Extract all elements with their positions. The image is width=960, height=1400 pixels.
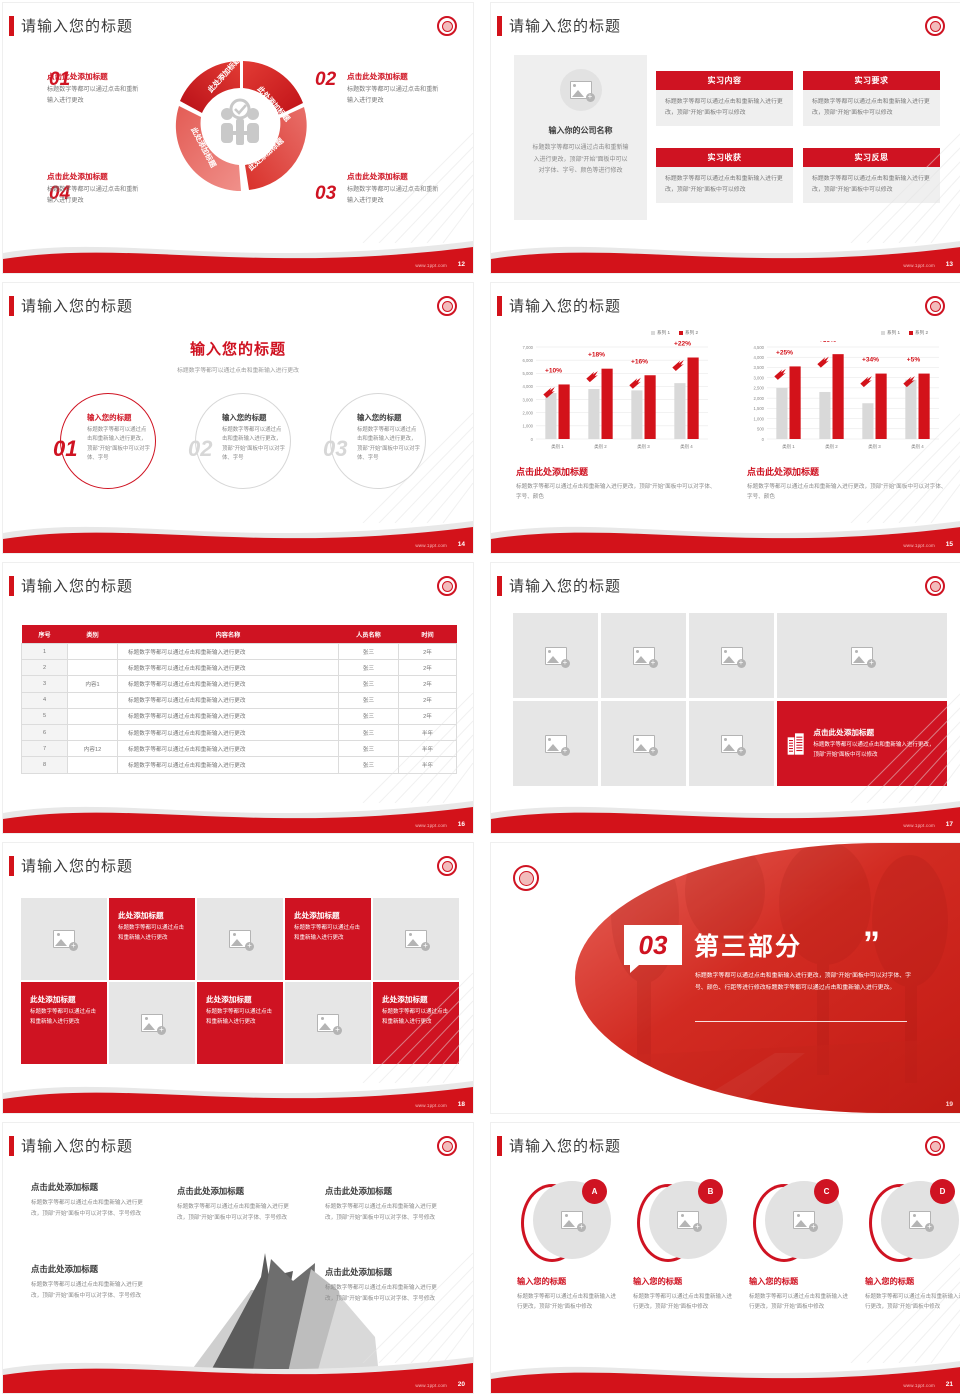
cycle-body: 标题数字等都可以通过点击和重新输入进行更改: [47, 85, 139, 106]
card-title: 实习要求: [803, 71, 940, 90]
photo-placeholder[interactable]: +: [601, 701, 686, 786]
lead-title: 输入您的标题: [3, 338, 473, 359]
tile-title: 此处添加标题: [118, 910, 186, 921]
footer-wave: [3, 1347, 473, 1393]
page-number: 17: [946, 821, 953, 828]
table-cell: 内容12: [68, 741, 118, 757]
cycle-heading: 点击此处添加标题: [47, 171, 139, 182]
legend-label: 系列 2: [915, 330, 928, 336]
table-cell: 标题数字等都可以通过点击和重新输入进行更改: [118, 757, 339, 773]
table-cell: [68, 644, 118, 660]
table-cell: 张三: [339, 644, 399, 660]
table-cell: 7: [22, 741, 68, 757]
footer-wave: [3, 507, 473, 553]
growth-arrow-icon: [629, 378, 641, 389]
university-seal-logo: [925, 296, 945, 316]
card-body: 标题数字等都可以通过点击和重新输入进行更改，顶部“开始”面板中可以修改: [656, 167, 793, 203]
circle-title: 输入您的标题: [222, 412, 286, 423]
footer-url: www.1ppt.com: [415, 1103, 447, 1108]
chart-caption: 点击此处添加标题: [516, 465, 716, 478]
cycle-diagram: 此处添加标题 此处添加标题 此处添加标题 此处添加标题: [165, 51, 315, 201]
legend-label: 系列 2: [685, 330, 698, 336]
footer-wave: [491, 507, 960, 553]
ring-badge: D: [930, 1179, 955, 1204]
y-axis-tick: 2,000: [754, 396, 765, 401]
table-cell: 标题数字等都可以通过点击和重新输入进行更改: [118, 676, 339, 692]
slide-header: 请输入您的标题: [9, 15, 133, 36]
university-seal-logo: [925, 16, 945, 36]
slide-19[interactable]: 03 第三部分 ” 标题数字等都可以通过点击和重新输入进行更改，顶部“开始”面板…: [490, 842, 960, 1114]
page-title: 请输入您的标题: [509, 15, 621, 36]
bar: [688, 358, 699, 439]
bar-annotation: +25%: [776, 349, 793, 356]
footer-url: www.1ppt.com: [415, 1383, 447, 1388]
cycle-text-02: 点击此处添加标题 标题数字等都可以通过点击和重新输入进行更改: [347, 71, 439, 106]
photo-placeholder[interactable]: +: [689, 701, 774, 786]
card-title: 实习内容: [656, 71, 793, 90]
info-card-3[interactable]: 实习收获 标题数字等都可以通过点击和重新输入进行更改，顶部“开始”面板中可以修改: [656, 148, 793, 203]
bar: [674, 383, 685, 439]
tile-body: 标题数字等都可以通过点击和重新输入进行更改: [206, 1008, 274, 1028]
company-name: 输入你的公司名称: [514, 125, 647, 136]
y-axis-tick: 6,000: [523, 358, 534, 363]
footer-url: www.1ppt.com: [903, 1383, 935, 1388]
y-axis-tick: 1,000: [754, 416, 765, 421]
y-axis-tick: 1,000: [523, 424, 534, 429]
slide-header: 请输入您的标题: [9, 575, 133, 596]
lead-subtitle: 标题数字等都可以通过点击和重新输入进行更改: [3, 365, 473, 374]
tile-body: 标题数字等都可以通过点击和重新输入进行更改: [118, 924, 186, 944]
page-number: 12: [458, 261, 465, 268]
footer-wave: [491, 787, 960, 833]
company-body: 标题数字等都可以通过点击和重新输入进行更改，顶部“开始”面板中可以对字体、字号、…: [514, 136, 647, 178]
add-image-icon: +: [317, 1014, 339, 1032]
y-axis-tick: 4,500: [754, 345, 765, 350]
feature-title: 点击此处添加标题: [177, 1185, 299, 1197]
y-axis-tick: 4,000: [523, 384, 534, 389]
y-axis-tick: 3,000: [523, 397, 534, 402]
ring-title: 输入您的标题: [633, 1275, 735, 1287]
add-image-icon: +: [909, 1211, 931, 1229]
table-header-cell: 序号: [22, 625, 68, 644]
x-axis-tick: 类别 2: [594, 443, 607, 450]
page-title: 请输入您的标题: [21, 1135, 133, 1156]
text-tile[interactable]: 此处添加标题标题数字等都可以通过点击和重新输入进行更改: [197, 982, 283, 1064]
add-image-icon: +: [793, 1211, 815, 1229]
tile-title: 此处添加标题: [294, 910, 362, 921]
section-number-box: 03: [624, 925, 682, 965]
footer-url: www.1ppt.com: [415, 823, 447, 828]
slide-13[interactable]: 请输入您的标题 + 输入你的公司名称 标题数字等都可以通过点击和重新输入进行更改…: [490, 2, 960, 274]
slide-header: 请输入您的标题: [497, 15, 621, 36]
circle-title: 输入您的标题: [87, 412, 151, 423]
university-seal-logo: [925, 1136, 945, 1156]
slide-21[interactable]: 请输入您的标题 +A输入您的标题标题数字等都可以通过点击和重新输入进行更改，顶部…: [490, 1122, 960, 1394]
chart-body: 标题数字等都可以通过点击和重新输入进行更改，顶部“开始”面板中可以对字体、字号、…: [516, 482, 716, 503]
bar-annotation: +22%: [674, 341, 691, 348]
footer-wave: [3, 787, 473, 833]
footer-wave: [491, 227, 960, 273]
university-seal-logo: [513, 865, 539, 891]
circle-number: 03: [323, 436, 347, 462]
add-image-icon: +: [561, 1211, 583, 1229]
university-seal-logo: [437, 296, 457, 316]
page-number: 16: [458, 821, 465, 828]
table-cell: 张三: [339, 676, 399, 692]
table-cell: 标题数字等都可以通过点击和重新输入进行更改: [118, 741, 339, 757]
slide-18[interactable]: 请输入您的标题 +此处添加标题标题数字等都可以通过点击和重新输入进行更改+此处添…: [2, 842, 474, 1114]
title-accent-bar: [9, 856, 14, 876]
y-axis-tick: 7,000: [523, 345, 534, 350]
table-cell: 8: [22, 757, 68, 773]
bar-annotation: +50%: [819, 341, 836, 344]
y-axis-tick: 2,000: [523, 411, 534, 416]
card-body: 标题数字等都可以通过点击和重新输入进行更改，顶部“开始”面板中可以修改: [656, 90, 793, 126]
section-heading: 第三部分: [694, 927, 802, 963]
page-number: 15: [946, 541, 953, 548]
table-cell: 6: [22, 724, 68, 740]
table-cell: 标题数字等都可以通过点击和重新输入进行更改: [118, 724, 339, 740]
table-row: 3内容1标题数字等都可以通过点击和重新输入进行更改张三2年: [22, 676, 457, 692]
slide-16[interactable]: 请输入您的标题 序号 类别 内容名称 人员名称 时间 1标题数字等都可以通过点击…: [2, 562, 474, 834]
add-image-icon: +: [545, 735, 567, 753]
slide-deck-contact-sheet: 请输入您的标题 此处添加标题 此处添加标题 此处: [0, 0, 960, 1394]
ring-graphic[interactable]: +B: [637, 1181, 721, 1265]
table-cell: [68, 757, 118, 773]
table-header-cell: 类别: [68, 625, 118, 644]
page-number: 18: [458, 1101, 465, 1108]
feature-block-1: 点击此处添加标题 标题数字等都可以通过点击和重新输入进行更改，顶部“开始”面板中…: [31, 1181, 153, 1219]
legend-label: 系列 1: [657, 330, 670, 336]
section-number: 03: [639, 930, 668, 961]
section-description: 标题数字等都可以通过点击和重新输入进行更改，顶部“开始”面板中可以对字体、字号、…: [695, 971, 913, 994]
y-axis-tick: 3,000: [754, 375, 765, 380]
photo-placeholder[interactable]: +: [601, 613, 686, 698]
bar: [559, 384, 570, 439]
growth-arrow-icon: [586, 371, 598, 382]
photo-placeholder[interactable]: +: [109, 982, 195, 1064]
circle-item-1[interactable]: 01 输入您的标题 标题数字等都可以通过点击和重新输入进行更改，顶部“开始”面板…: [60, 393, 156, 489]
title-accent-bar: [9, 16, 14, 36]
growth-arrow-icon: [672, 360, 684, 371]
page-title: 请输入您的标题: [21, 15, 133, 36]
add-image-icon: +: [633, 735, 655, 753]
tile-body: 标题数字等都可以通过点击和重新输入进行更改: [30, 1008, 98, 1028]
company-panel[interactable]: + 输入你的公司名称 标题数字等都可以通过点击和重新输入进行更改，顶部“开始”面…: [514, 55, 647, 220]
slide-header: 请输入您的标题: [497, 295, 621, 316]
photo-placeholder[interactable]: +: [513, 613, 598, 698]
ring-badge: B: [698, 1179, 723, 1204]
feature-body: 标题数字等都可以通过点击和重新输入进行更改，顶部“开始”面板中可以对字体、字号修…: [31, 1198, 153, 1219]
chart-2-legend: 系列 1 系列 2: [881, 330, 928, 336]
footer-url: www.1ppt.com: [903, 263, 935, 268]
y-axis-tick: 4,000: [754, 355, 765, 360]
slide-header: 请输入您的标题: [497, 575, 621, 596]
ring-body: 标题数字等都可以通过点击和重新输入进行更改，顶部“开始”面板中修改: [633, 1292, 735, 1312]
table-cell: 内容1: [68, 676, 118, 692]
y-axis-tick: 2,500: [754, 386, 765, 391]
feature-body: 标题数字等都可以通过点击和重新输入进行更改，顶部“开始”面板中可以对字体、字号修…: [325, 1202, 447, 1223]
bar-annotation: +16%: [631, 358, 648, 365]
page-title: 请输入您的标题: [509, 575, 621, 596]
text-tile[interactable]: 此处添加标题标题数字等都可以通过点击和重新输入进行更改: [21, 982, 107, 1064]
add-image-icon: +: [405, 930, 427, 948]
slide-header: 请输入您的标题: [9, 295, 133, 316]
cycle-number-02: 02: [315, 69, 336, 91]
table-cell: 标题数字等都可以通过点击和重新输入进行更改: [118, 692, 339, 708]
table-cell: [68, 692, 118, 708]
table-cell: 3: [22, 676, 68, 692]
y-axis-tick: 0: [762, 437, 765, 442]
building-icon: [787, 728, 804, 760]
cycle-body: 标题数字等都可以通过点击和重新输入进行更改: [347, 85, 439, 106]
footer-url: www.1ppt.com: [903, 543, 935, 548]
ring-badge: A: [582, 1179, 607, 1204]
x-axis-tick: 类别 4: [680, 443, 693, 450]
title-accent-bar: [9, 576, 14, 596]
circle-body: 标题数字等都可以通过点击和重新输入进行更改，顶部“开始”面板中可以对字体、字号: [222, 426, 286, 464]
table-cell: 张三: [339, 660, 399, 676]
bar: [545, 393, 556, 439]
bar-chart-1: 01,0002,0003,0004,0005,0006,0007,000类别 1…: [506, 341, 714, 461]
tile-title: 此处添加标题: [30, 994, 98, 1005]
cycle-body: 标题数字等都可以通过点击和重新输入进行更改: [47, 185, 139, 206]
university-seal-logo: [925, 576, 945, 596]
add-image-icon: +: [851, 647, 873, 665]
add-image-icon: +: [229, 930, 251, 948]
tile-body: 标题数字等都可以通过点击和重新输入进行更改: [294, 924, 362, 944]
text-tile[interactable]: 此处添加标题标题数字等都可以通过点击和重新输入进行更改: [109, 898, 195, 980]
footer-wave: [491, 1347, 960, 1393]
x-axis-tick: 类别 2: [825, 443, 838, 450]
ring-body: 标题数字等都可以通过点击和重新输入进行更改，顶部“开始”面板中修改: [517, 1292, 619, 1312]
slide-14[interactable]: 请输入您的标题 输入您的标题 标题数字等都可以通过点击和重新输入进行更改 01 …: [2, 282, 474, 554]
table-cell: 4: [22, 692, 68, 708]
chart-1-caption-block: 点击此处添加标题 标题数字等都可以通过点击和重新输入进行更改，顶部“开始”面板中…: [516, 465, 716, 503]
circle-number: 02: [188, 436, 212, 462]
page-number: 21: [946, 1381, 953, 1388]
slide-20[interactable]: 请输入您的标题 点击此处添加标题 标题数字等都可以通过点击和重新输入进行更改，顶…: [2, 1122, 474, 1394]
title-accent-bar: [497, 296, 502, 316]
feature-title: 点击此处添加标题: [31, 1263, 153, 1275]
university-seal-logo: [437, 16, 457, 36]
x-axis-tick: 类别 1: [551, 443, 564, 450]
university-seal-logo: [437, 1136, 457, 1156]
y-axis-tick: 500: [757, 427, 765, 432]
bar-annotation: +18%: [588, 352, 605, 359]
add-image-icon: +: [677, 1211, 699, 1229]
ring-body: 标题数字等都可以通过点击和重新输入进行更改，顶部“开始”面板中修改: [749, 1292, 851, 1312]
add-image-icon: +: [570, 81, 592, 99]
table-cell: 2: [22, 660, 68, 676]
bar: [588, 389, 599, 439]
table-cell: 2年: [399, 676, 457, 692]
x-axis-tick: 类别 3: [637, 443, 650, 450]
circle-item-2[interactable]: 02 输入您的标题 标题数字等都可以通过点击和重新输入进行更改，顶部“开始”面板…: [195, 393, 291, 489]
y-axis-tick: 3,500: [754, 365, 765, 370]
feature-block-4: 点击此处添加标题 标题数字等都可以通过点击和重新输入进行更改，顶部“开始”面板中…: [31, 1263, 153, 1301]
table-cell: 标题数字等都可以通过点击和重新输入进行更改: [118, 708, 339, 724]
section-divider-rule: [695, 1021, 907, 1022]
slide-header: 请输入您的标题: [497, 1135, 621, 1156]
cycle-heading: 点击此处添加标题: [47, 71, 139, 82]
bar: [602, 369, 613, 439]
table-header-cell: 时间: [399, 625, 457, 644]
ring-title: 输入您的标题: [517, 1275, 619, 1287]
y-axis-tick: 5,000: [523, 371, 534, 376]
photo-placeholder[interactable]: +: [689, 613, 774, 698]
page-number: 14: [458, 541, 465, 548]
bar: [776, 388, 787, 439]
bar: [631, 390, 642, 439]
card-title: 实习收获: [656, 148, 793, 167]
info-card-1[interactable]: 实习内容 标题数字等都可以通过点击和重新输入进行更改，顶部“开始”面板中可以修改: [656, 71, 793, 126]
bar-annotation: +5%: [907, 357, 921, 364]
footer-url: www.1ppt.com: [903, 823, 935, 828]
add-image-icon: +: [721, 647, 743, 665]
university-seal-logo: [437, 576, 457, 596]
ring-unit[interactable]: +A输入您的标题标题数字等都可以通过点击和重新输入进行更改，顶部“开始”面板中修…: [515, 1181, 619, 1312]
text-tile[interactable]: 此处添加标题标题数字等都可以通过点击和重新输入进行更改: [285, 898, 371, 980]
card-body: 标题数字等都可以通过点击和重新输入进行更改，顶部“开始”面板中可以修改: [803, 90, 940, 126]
tile-title: 此处添加标题: [206, 994, 274, 1005]
table-cell: 2年: [399, 660, 457, 676]
slide-header: 请输入您的标题: [9, 855, 133, 876]
bar-annotation: +10%: [545, 367, 562, 374]
table-cell: [68, 724, 118, 740]
footer-wave: [3, 227, 473, 273]
title-accent-bar: [497, 16, 502, 36]
table-cell: [68, 708, 118, 724]
photo-placeholder[interactable]: +: [197, 898, 283, 980]
company-logo-placeholder[interactable]: +: [560, 69, 602, 111]
chart-1-legend: 系列 1 系列 2: [651, 330, 698, 336]
cycle-text-04: 点击此处添加标题 标题数字等都可以通过点击和重新输入进行更改: [47, 171, 139, 206]
page-title: 请输入您的标题: [21, 855, 133, 876]
cycle-number-03: 03: [315, 183, 336, 205]
feature-title: 点击此处添加标题: [31, 1181, 153, 1193]
feature-body: 标题数字等都可以通过点击和重新输入进行更改，顶部“开始”面板中可以对字体、字号修…: [31, 1280, 153, 1301]
feature-title: 点击此处添加标题: [325, 1185, 447, 1197]
photo-placeholder[interactable]: +: [777, 613, 947, 698]
ring-title: 输入您的标题: [749, 1275, 851, 1287]
page-title: 请输入您的标题: [509, 1135, 621, 1156]
info-card-2[interactable]: 实习要求 标题数字等都可以通过点击和重新输入进行更改，顶部“开始”面板中可以修改: [803, 71, 940, 126]
table-cell: 标题数字等都可以通过点击和重新输入进行更改: [118, 660, 339, 676]
add-image-icon: +: [721, 735, 743, 753]
slide-17[interactable]: 请输入您的标题 + + + + + + + 点击此处添加标题 标题数字等都可以通…: [490, 562, 960, 834]
footer-url: www.1ppt.com: [415, 543, 447, 548]
bar: [790, 366, 801, 439]
bar-annotation: +34%: [862, 357, 879, 364]
title-accent-bar: [497, 576, 502, 596]
table-row: 1标题数字等都可以通过点击和重新输入进行更改张三2年: [22, 644, 457, 660]
add-image-icon: +: [633, 647, 655, 665]
cycle-text-01: 点击此处添加标题 标题数字等都可以通过点击和重新输入进行更改: [47, 71, 139, 106]
feature-block-2: 点击此处添加标题 标题数字等都可以通过点击和重新输入进行更改，顶部“开始”面板中…: [177, 1185, 299, 1223]
photo-placeholder[interactable]: +: [513, 701, 598, 786]
table-header-cell: 人员名称: [339, 625, 399, 644]
ring-unit[interactable]: +B输入您的标题标题数字等都可以通过点击和重新输入进行更改，顶部“开始”面板中修…: [631, 1181, 735, 1312]
bar: [645, 375, 656, 439]
bar: [819, 392, 830, 439]
table-header-row: 序号 类别 内容名称 人员名称 时间: [22, 625, 457, 644]
footer-url: www.1ppt.com: [415, 263, 447, 268]
ring-badge: C: [814, 1179, 839, 1204]
slide-12[interactable]: 请输入您的标题 此处添加标题 此处添加标题 此处: [2, 2, 474, 274]
table-cell: [68, 660, 118, 676]
growth-arrow-icon: [817, 357, 829, 368]
university-seal-logo: [437, 856, 457, 876]
ring-graphic[interactable]: +A: [521, 1181, 605, 1265]
page-number: 13: [946, 261, 953, 268]
table-cell: 2年: [399, 644, 457, 660]
growth-arrow-icon: [774, 369, 786, 380]
slide-15[interactable]: 请输入您的标题 系列 1 系列 2 系列 1 系列 2 01,0002,0003…: [490, 282, 960, 554]
title-accent-bar: [9, 296, 14, 316]
ring-unit[interactable]: +C输入您的标题标题数字等都可以通过点击和重新输入进行更改，顶部“开始”面板中修…: [747, 1181, 851, 1312]
table-cell: 标题数字等都可以通过点击和重新输入进行更改: [118, 644, 339, 660]
footer-wave: [3, 1067, 473, 1113]
table-cell: 5: [22, 708, 68, 724]
title-accent-bar: [497, 1136, 502, 1156]
title-accent-bar: [9, 1136, 14, 1156]
page-number: 20: [458, 1381, 465, 1388]
y-axis-tick: 0: [531, 437, 534, 442]
photo-placeholder[interactable]: +: [21, 898, 107, 980]
circle-number: 01: [53, 436, 77, 462]
cycle-heading: 点击此处添加标题: [347, 71, 439, 82]
y-axis-tick: 1,500: [754, 406, 765, 411]
table-header-cell: 内容名称: [118, 625, 339, 644]
table-cell: 1: [22, 644, 68, 660]
page-title: 请输入您的标题: [509, 295, 621, 316]
add-image-icon: +: [53, 930, 75, 948]
table-row: 2标题数字等都可以通过点击和重新输入进行更改张三2年: [22, 660, 457, 676]
slide-header: 请输入您的标题: [9, 1135, 133, 1156]
x-axis-tick: 类别 1: [782, 443, 795, 450]
circle-body: 标题数字等都可以通过点击和重新输入进行更改，顶部“开始”面板中可以对字体、字号: [87, 426, 151, 464]
page-number: 19: [946, 1101, 953, 1108]
add-image-icon: +: [141, 1014, 163, 1032]
page-title: 请输入您的标题: [21, 295, 133, 316]
page-title: 请输入您的标题: [21, 575, 133, 596]
feature-body: 标题数字等都可以通过点击和重新输入进行更改，顶部“开始”面板中可以对字体、字号修…: [177, 1202, 299, 1223]
quote-mark-icon: ”: [863, 925, 880, 964]
ring-graphic[interactable]: +C: [753, 1181, 837, 1265]
photo-placeholder[interactable]: +: [373, 898, 459, 980]
feature-block-3: 点击此处添加标题 标题数字等都可以通过点击和重新输入进行更改，顶部“开始”面板中…: [325, 1185, 447, 1223]
legend-label: 系列 1: [887, 330, 900, 336]
add-image-icon: +: [545, 647, 567, 665]
